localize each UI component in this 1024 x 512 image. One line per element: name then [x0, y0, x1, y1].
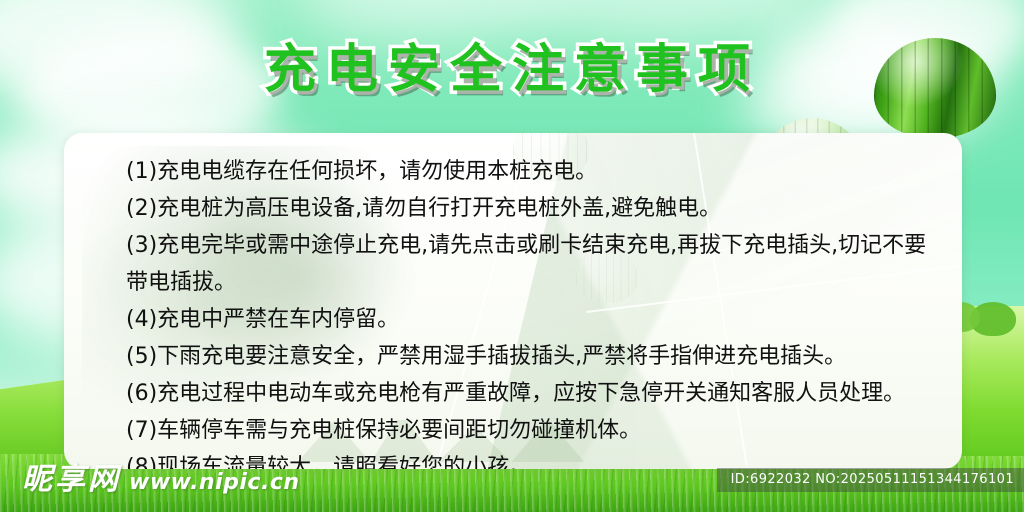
cloud-shape — [300, 0, 560, 40]
list-item: (1)充电电缆存在任何损坏，请勿使用本桩充电。 — [98, 153, 936, 190]
list-item: (3)充电完毕或需中途停止充电,请先点击或刷卡结束充电,再拔下充电插头,切记不要… — [98, 227, 936, 301]
list-item-text: (4)充电中严禁在车内停留。 — [98, 301, 936, 338]
cloud-shape — [520, 0, 820, 40]
list-item-text: (8)现场车流量较大，请照看好您的小孩。 — [98, 449, 936, 469]
list-item-text: (7)车辆停车需与充电桩保持必要间距切勿碰撞机体。 — [98, 412, 936, 449]
list-item-text: (1)充电电缆存在任何损坏，请勿使用本桩充电。 — [98, 153, 936, 190]
safety-notice-list: (1)充电电缆存在任何损坏，请勿使用本桩充电。 (2)充电桩为高压电设备,请勿自… — [98, 153, 936, 469]
list-item-text: (2)充电桩为高压电设备,请勿自行打开充电桩外盖,避免触电。 — [98, 190, 936, 227]
poster-canvas: 充电安全注意事项 (1)充电电缆存在任何损坏，请勿使用本桩充电。 (2)充电桩为… — [0, 0, 1024, 512]
list-item-text: (6)充电过程中电动车或充电枪有严重故障，应按下急停开关通知客服人员处理。 — [98, 375, 936, 412]
page-title: 充电安全注意事项 — [0, 44, 1024, 96]
list-item-text: (5)下雨充电要注意安全，严禁用湿手插拔插头,严禁将手指伸进充电插头。 — [98, 338, 936, 375]
list-item: (7)车辆停车需与充电桩保持必要间距切勿碰撞机体。 — [98, 412, 936, 449]
list-item: (5)下雨充电要注意安全，严禁用湿手插拔插头,严禁将手指伸进充电插头。 — [98, 338, 936, 375]
list-item: (2)充电桩为高压电设备,请勿自行打开充电桩外盖,避免触电。 — [98, 190, 936, 227]
content-panel: (1)充电电缆存在任何损坏，请勿使用本桩充电。 (2)充电桩为高压电设备,请勿自… — [64, 133, 962, 469]
list-item: (6)充电过程中电动车或充电枪有严重故障，应按下急停开关通知客服人员处理。 — [98, 375, 936, 412]
list-item: (4)充电中严禁在车内停留。 — [98, 301, 936, 338]
list-item: (8)现场车流量较大，请照看好您的小孩。 — [98, 449, 936, 469]
image-id-watermark: ID:6922032 NO:20250511151344176101 — [717, 468, 1024, 492]
list-item-text: (3)充电完毕或需中途停止充电,请先点击或刷卡结束充电,再拔下充电插头,切记不要… — [98, 227, 936, 301]
